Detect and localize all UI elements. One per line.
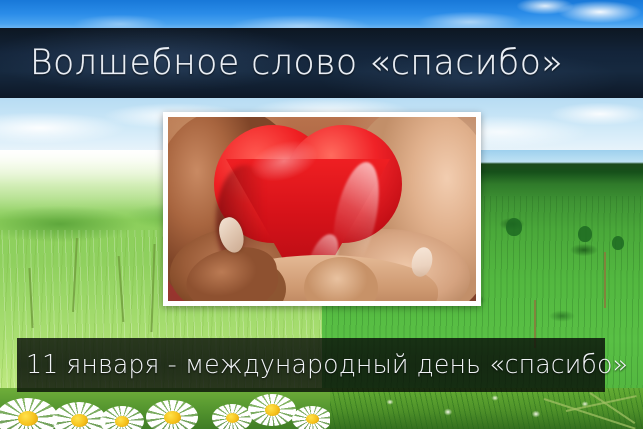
daisy-flower xyxy=(248,394,296,426)
poster-subtitle: 11 января - международный день «спасибо» xyxy=(26,352,628,378)
grass-flower-band xyxy=(330,388,643,429)
tree-shape xyxy=(578,226,592,242)
field-pole xyxy=(604,252,606,308)
daisy-flower xyxy=(212,404,252,429)
daisy-flower xyxy=(100,406,144,429)
daisy-flower xyxy=(0,398,58,429)
sky-top-strip xyxy=(0,0,643,30)
poster-title: Волшебное слово «спасибо» xyxy=(30,46,563,81)
daisy-flower-band xyxy=(0,388,330,429)
heart-photo-frame xyxy=(163,112,481,306)
heart-photo xyxy=(168,117,476,301)
poster-canvas: Волшебное слово «спасибо» 11 января - ме… xyxy=(0,0,643,429)
grass-twig xyxy=(566,395,637,412)
daisy-flower xyxy=(292,406,330,429)
title-banner: Волшебное слово «спасибо» xyxy=(0,28,643,98)
tree-shape xyxy=(612,236,624,250)
subtitle-banner: 11 января - международный день «спасибо» xyxy=(17,338,605,392)
daisy-flower xyxy=(52,402,106,429)
daisy-flower xyxy=(146,400,198,429)
tree-shape xyxy=(506,218,522,236)
